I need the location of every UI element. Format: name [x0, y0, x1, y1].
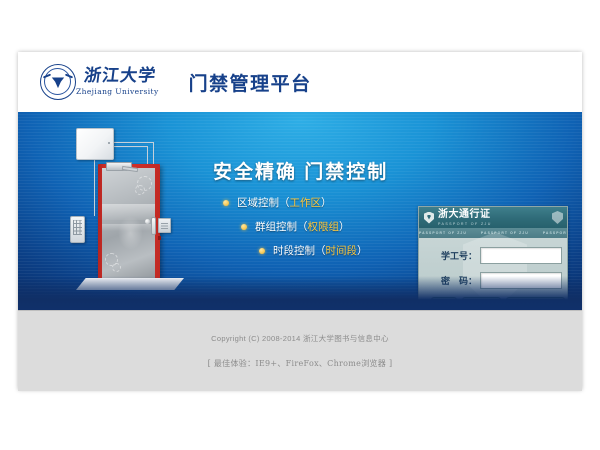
username-row: 学工号：	[419, 247, 567, 264]
feature-text: 区域控制（	[237, 195, 290, 210]
banner-bottom-fade	[18, 276, 582, 310]
site-footer: Copyright (C) 2008-2014 浙江大学图书与信息中心 [ 最佳…	[18, 310, 582, 391]
username-label: 学工号：	[419, 249, 480, 262]
banner-headline: 安全精确 门禁控制	[213, 157, 388, 184]
page-title: 门禁管理平台	[189, 69, 312, 96]
browser-support-text: [ 最佳体验：IE9+、FireFox、Chrome浏览器 ]	[208, 358, 393, 369]
feature-highlight: 工作区	[290, 195, 322, 210]
bullet-icon	[259, 248, 265, 254]
access-controller-box-icon	[76, 128, 114, 160]
university-name-cn: 浙江大学	[83, 68, 160, 85]
feature-text: 群组控制（	[255, 219, 308, 234]
security-door-icon	[98, 164, 160, 282]
feature-tail: ）	[321, 195, 332, 210]
bullet-icon	[223, 200, 229, 206]
feature-item-time: 时段控制（时间段）	[259, 243, 368, 258]
feature-item-area: 区域控制（工作区）	[223, 195, 368, 210]
login-panel-subtitle: PASSPORT OF ZJU	[438, 222, 492, 226]
logo-block[interactable]: 浙江大学 Zhejiang University	[40, 64, 159, 100]
login-panel-header: 浙大通行证 PASSPORT OF ZJU	[419, 207, 567, 228]
feature-highlight: 权限组	[308, 219, 340, 234]
door-handle-icon	[151, 217, 156, 235]
site-header: 浙江大学 Zhejiang University 门禁管理平台	[18, 52, 582, 112]
page-container: 浙江大学 Zhejiang University 门禁管理平台	[18, 52, 582, 390]
feature-list: 区域控制（工作区） 群组控制（权限组） 时段控制（时间段）	[223, 195, 368, 267]
hero-banner: 安全精确 门禁控制 区域控制（工作区） 群组控制（权限组） 时段控制（时间段） …	[18, 112, 582, 310]
feature-tail: ）	[357, 243, 368, 258]
zju-seal-icon	[40, 64, 76, 100]
shield-badge-icon	[552, 211, 563, 224]
wire-left	[94, 158, 96, 216]
card-reader-icon	[158, 218, 171, 233]
watermark-text: PASSPORT OF ZJU	[543, 231, 567, 235]
watermark-text: PASSPORT OF ZJU	[419, 231, 467, 235]
wire-right-2	[147, 146, 149, 166]
bullet-icon	[241, 224, 247, 230]
copyright-text: Copyright (C) 2008-2014 浙江大学图书与信息中心	[211, 333, 389, 344]
university-name-en: Zhejiang University	[76, 87, 159, 96]
feature-highlight: 时间段	[326, 243, 358, 258]
shield-icon	[424, 212, 434, 224]
wire-top-2	[112, 146, 148, 148]
login-panel-title: 浙大通行证	[438, 210, 492, 220]
wire-top	[112, 142, 154, 144]
access-control-illustration	[48, 120, 198, 300]
keypad-reader-icon	[70, 216, 85, 243]
feature-text: 时段控制（	[273, 243, 326, 258]
feature-tail: ）	[339, 219, 350, 234]
watermark-text: PASSPORT OF ZJU	[481, 231, 529, 235]
username-input[interactable]	[480, 247, 562, 264]
door-closer-icon	[106, 162, 132, 171]
university-name: 浙江大学 Zhejiang University	[76, 68, 159, 96]
feature-item-group: 群组控制（权限组）	[241, 219, 368, 234]
